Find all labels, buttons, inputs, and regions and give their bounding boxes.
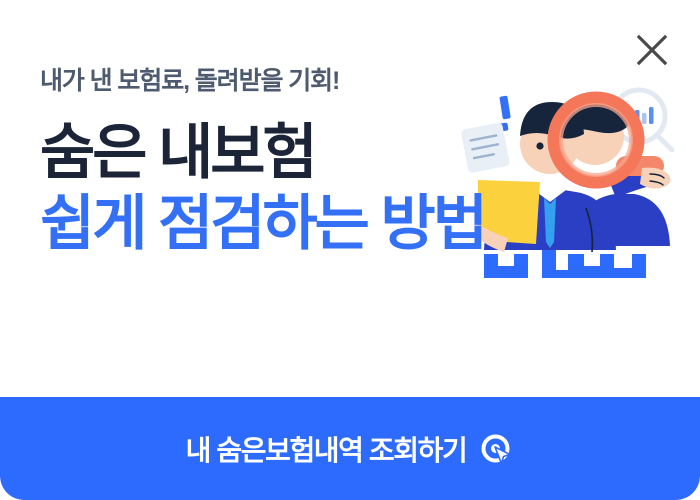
eyebrow-text: 내가 낸 보험료, 돌려받을 기회! [40,66,485,96]
yellow-folder [476,180,540,252]
close-button[interactable] [632,30,672,70]
chart-search-icon [613,90,672,150]
headline-line-2: 쉽게 점검하는 방법 [40,189,485,260]
cta-button[interactable]: 내 숨은보험내역 조회하기 [0,397,700,500]
person-front [484,102,616,252]
target-cursor-icon [480,431,514,467]
person-arm [608,156,671,198]
promo-banner: 내가 낸 보험료, 돌려받을 기회! 숨은 내보험 쉽게 점검하는 방법 [0,0,700,500]
headline: 숨은 내보험 쉽게 점검하는 방법 [40,118,485,260]
exclamation-mark [499,96,510,132]
cta-label: 내 숨은보험내역 조회하기 [186,429,467,469]
copy-block: 내가 낸 보험료, 돌려받을 기회! 숨은 내보험 쉽게 점검하는 방법 [40,66,485,260]
close-icon [635,33,669,67]
magnifier-ring [554,98,638,182]
person-back [566,102,670,246]
illustration [456,78,696,278]
headline-line-1: 숨은 내보험 [40,118,485,189]
bar-chart-base [484,250,646,278]
